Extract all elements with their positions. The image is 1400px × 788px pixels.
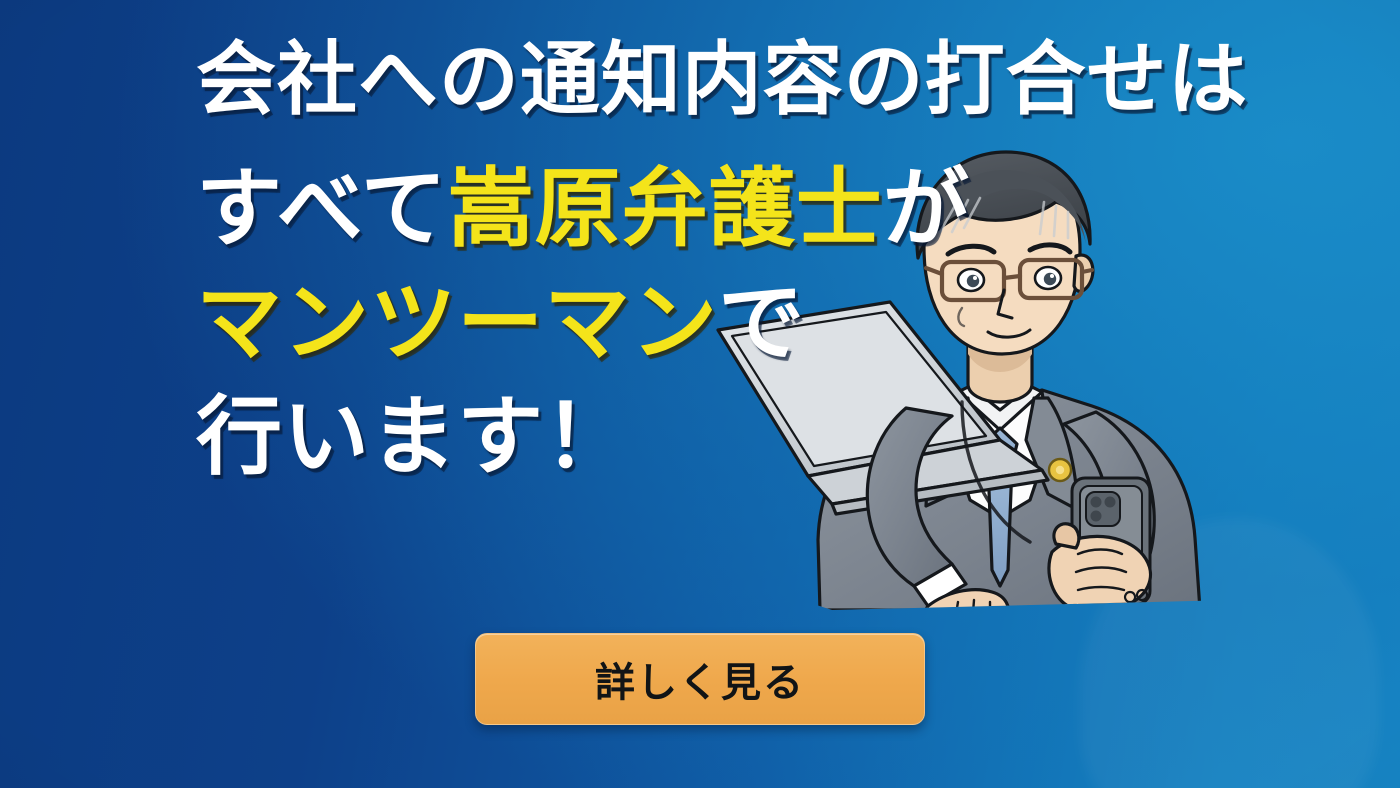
headline-highlight-lawyer-name: 嵩原弁護士	[448, 159, 883, 259]
cta-row: 詳しく見る	[0, 633, 1400, 725]
promo-banner: 会社への通知内容の打合せは すべて嵩原弁護士が マンツーマンで 行います！ 詳し…	[0, 0, 1400, 788]
headline-line-1-text: 会社への通知内容の打合せは	[196, 33, 1248, 126]
details-button[interactable]: 詳しく見る	[475, 633, 925, 725]
headline-line-2: すべて嵩原弁護士が	[196, 166, 1256, 252]
headline-line-3-suffix: で	[718, 273, 805, 373]
headline-block: 会社への通知内容の打合せは すべて嵩原弁護士が マンツーマンで 行います！	[196, 40, 1256, 480]
headline-line-4: 行います！	[196, 394, 1256, 480]
headline-line-1: 会社への通知内容の打合せは	[196, 40, 1256, 120]
headline-line-3: マンツーマンで	[196, 280, 1256, 366]
headline-line-2-prefix: すべて	[196, 159, 448, 259]
details-button-label: 詳しく見る	[595, 650, 805, 708]
headline-line-4-text: 行います！	[196, 387, 631, 487]
headline-highlight-one-on-one: マンツーマン	[196, 273, 718, 373]
headline-line-2-suffix: が	[883, 159, 970, 259]
